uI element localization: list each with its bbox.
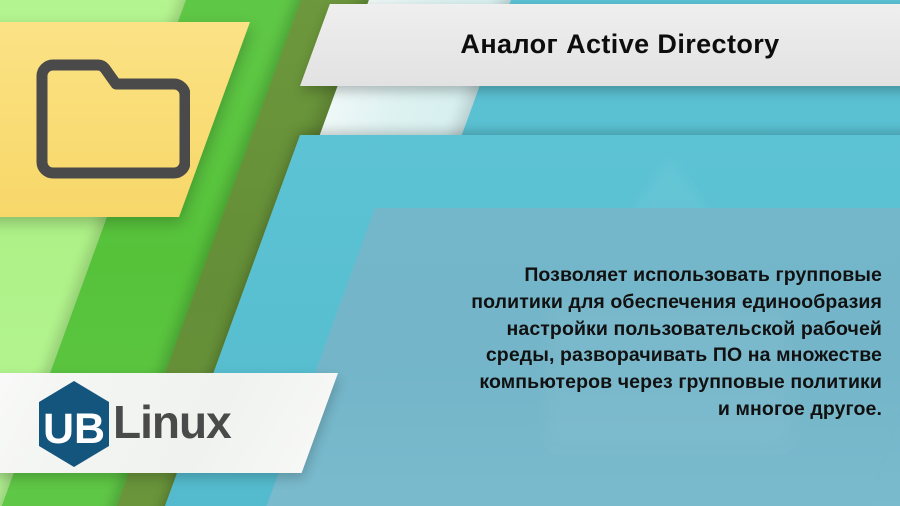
hexagon-badge-icon: UB bbox=[35, 379, 113, 469]
hexagon-badge-label: UB bbox=[43, 405, 105, 453]
folder-icon bbox=[30, 50, 190, 180]
brand-logo: UB Linux bbox=[35, 378, 231, 470]
body-paragraph: Позволяет использовать групповые политик… bbox=[462, 262, 882, 423]
page-title: Аналог Active Directory bbox=[340, 18, 900, 70]
slide-canvas: Аналог Active Directory Позволяет исполь… bbox=[0, 0, 900, 506]
logo-wordmark: Linux bbox=[113, 399, 231, 449]
